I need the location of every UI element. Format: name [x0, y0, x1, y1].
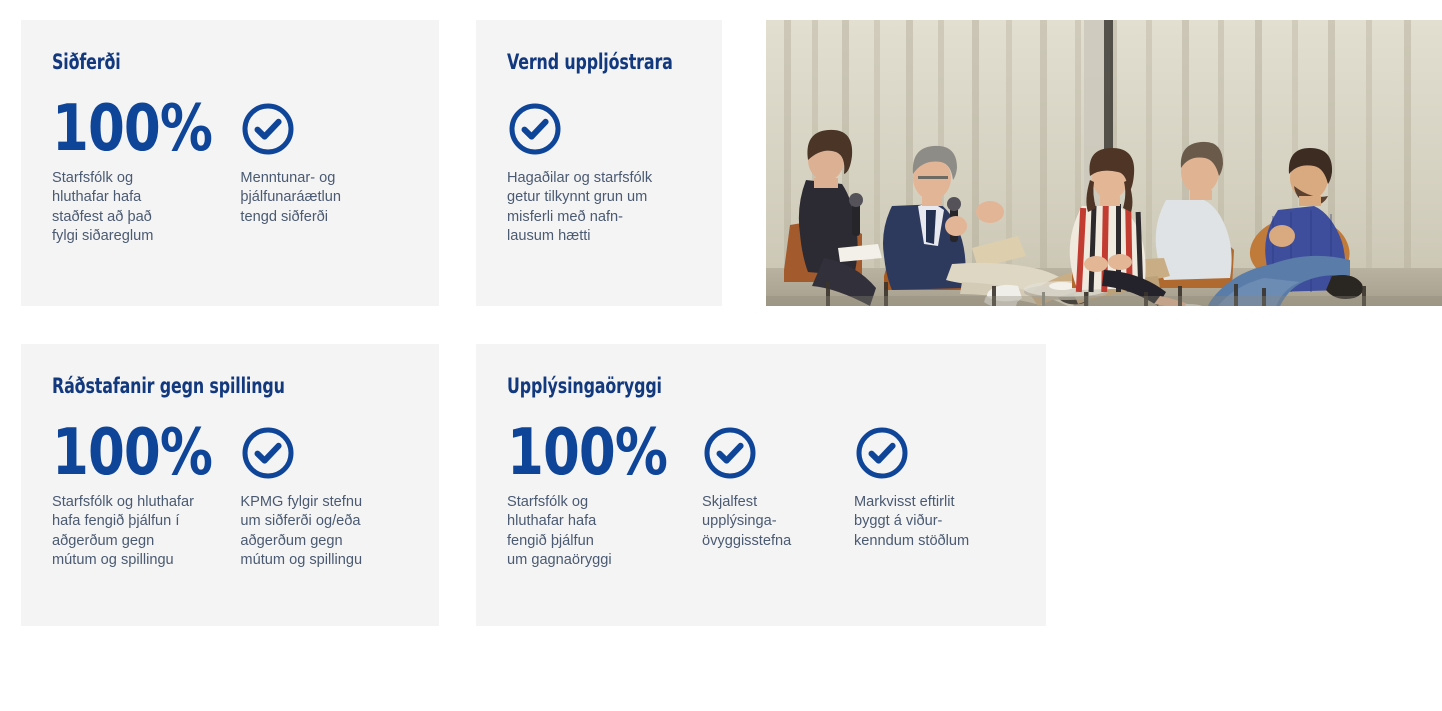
panel-discussion-photo — [766, 20, 1442, 306]
stat-description: Starfsfólk og hluthafar hafa staðfest að… — [52, 169, 240, 247]
check-column: KPMG fylgir stefnu um siðferði og/eða að… — [240, 422, 409, 571]
stat-card-whistleblower: Vernd uppljóstrara Hagaðilar og starfsfó… — [476, 20, 722, 306]
check-column: Hagaðilar og starfsfólk getur tilkynnt g… — [507, 98, 692, 247]
card-title: Siðferði — [52, 50, 352, 74]
check-circle-icon — [240, 101, 296, 157]
card-columns: 100% Starfsfólk og hluthafar hafa fengið… — [52, 422, 409, 571]
page-root: Siðferði 100% Starfsfólk og hluthafar ha… — [0, 0, 1442, 711]
stat-description: Starfsfólk og hluthafar hafa fengið þjál… — [52, 493, 240, 571]
check-circle-icon — [702, 425, 758, 481]
check-column: Menntunar- og þjálfunaráætlun tengd siðf… — [240, 98, 409, 227]
card-title: Vernd uppljóstrara — [507, 50, 662, 74]
stat-column: 100% Starfsfólk og hluthafar hafa staðfe… — [52, 98, 240, 247]
stat-card-etics: Siðferði 100% Starfsfólk og hluthafar ha… — [21, 20, 439, 306]
stat-column: 100% Starfsfólk og hluthafar hafa fengið… — [507, 422, 702, 571]
check-circle-icon — [507, 101, 563, 157]
check-description: KPMG fylgir stefnu um siðferði og/eða að… — [240, 493, 409, 571]
stat-value: 100% — [52, 422, 225, 484]
card-title: Ráðstafanir gegn spillingu — [52, 374, 352, 398]
check-description: Markvisst eftirlit byggt á viður- kenndu… — [854, 493, 1014, 551]
card-title: Upplýsingaöryggi — [507, 374, 935, 398]
stat-value: 100% — [52, 98, 225, 160]
stat-value: 100% — [507, 422, 686, 484]
check-description: Hagaðilar og starfsfólk getur tilkynnt g… — [507, 169, 692, 247]
check-column: Skjalfest upplýsinga- övyggisstefna — [702, 422, 854, 551]
stat-card-anti-corruption: Ráðstafanir gegn spillingu 100% Starfsfó… — [21, 344, 439, 626]
stat-column: 100% Starfsfólk og hluthafar hafa fengið… — [52, 422, 240, 571]
check-column: Markvisst eftirlit byggt á viður- kenndu… — [854, 422, 1014, 551]
card-columns: 100% Starfsfólk og hluthafar hafa staðfe… — [52, 98, 409, 247]
stat-card-information-security: Upplýsingaöryggi 100% Starfsfólk og hlut… — [476, 344, 1046, 626]
check-description: Menntunar- og þjálfunaráætlun tengd siðf… — [240, 169, 409, 227]
stat-description: Starfsfólk og hluthafar hafa fengið þjál… — [507, 493, 702, 571]
check-description: Skjalfest upplýsinga- övyggisstefna — [702, 493, 854, 551]
check-circle-icon — [240, 425, 296, 481]
card-columns: Hagaðilar og starfsfólk getur tilkynnt g… — [507, 98, 692, 247]
check-circle-icon — [854, 425, 910, 481]
card-columns: 100% Starfsfólk og hluthafar hafa fengið… — [507, 422, 1016, 571]
